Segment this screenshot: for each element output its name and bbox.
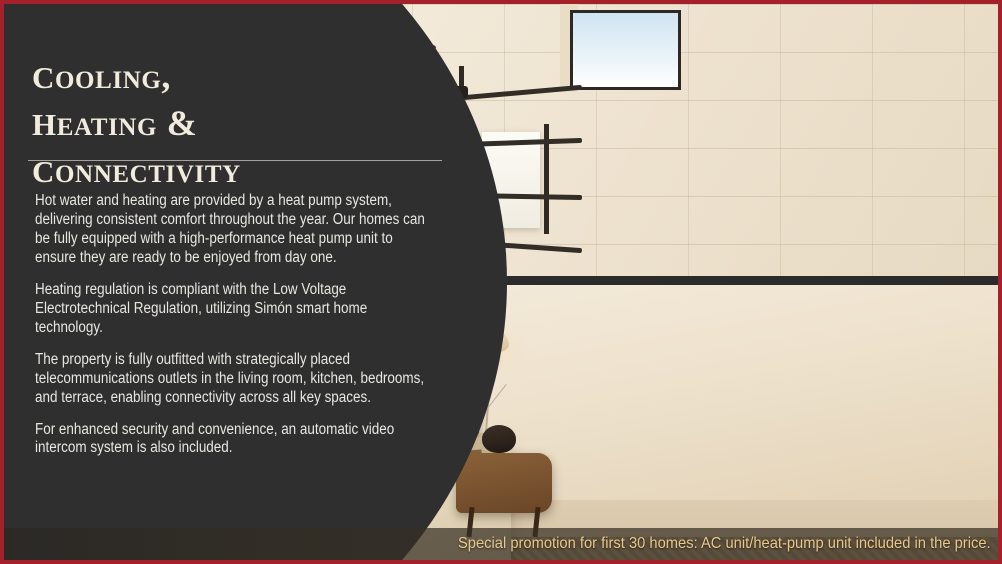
paragraph: Hot water and heating are provided by a … — [35, 192, 433, 268]
body-copy: Hot water and heating are provided by a … — [35, 192, 433, 471]
title-divider — [28, 160, 442, 161]
bathroom-window — [570, 10, 681, 90]
promotion-text: Special promotion for first 30 homes: AC… — [458, 535, 998, 553]
title-line-3: connectivity — [32, 144, 432, 191]
page-title: Cooling, heating & connectivity — [32, 50, 432, 191]
paragraph: The property is fully outfitted with str… — [35, 351, 433, 408]
title-line-1: Cooling, — [32, 50, 432, 97]
title-line-2: heating & — [32, 97, 432, 144]
text-content: Cooling, heating & connectivity Hot wate… — [4, 4, 444, 560]
promotion-banner: Special promotion for first 30 homes: AC… — [4, 528, 998, 560]
paragraph: For enhanced security and convenience, a… — [35, 421, 433, 459]
paragraph: Heating regulation is compliant with the… — [35, 281, 433, 338]
slide-stage: Cooling, heating & connectivity Hot wate… — [4, 4, 998, 560]
ceramic-vase — [482, 425, 516, 453]
slide-root: Cooling, heating & connectivity Hot wate… — [0, 0, 1002, 564]
nightstand-right — [456, 453, 552, 513]
